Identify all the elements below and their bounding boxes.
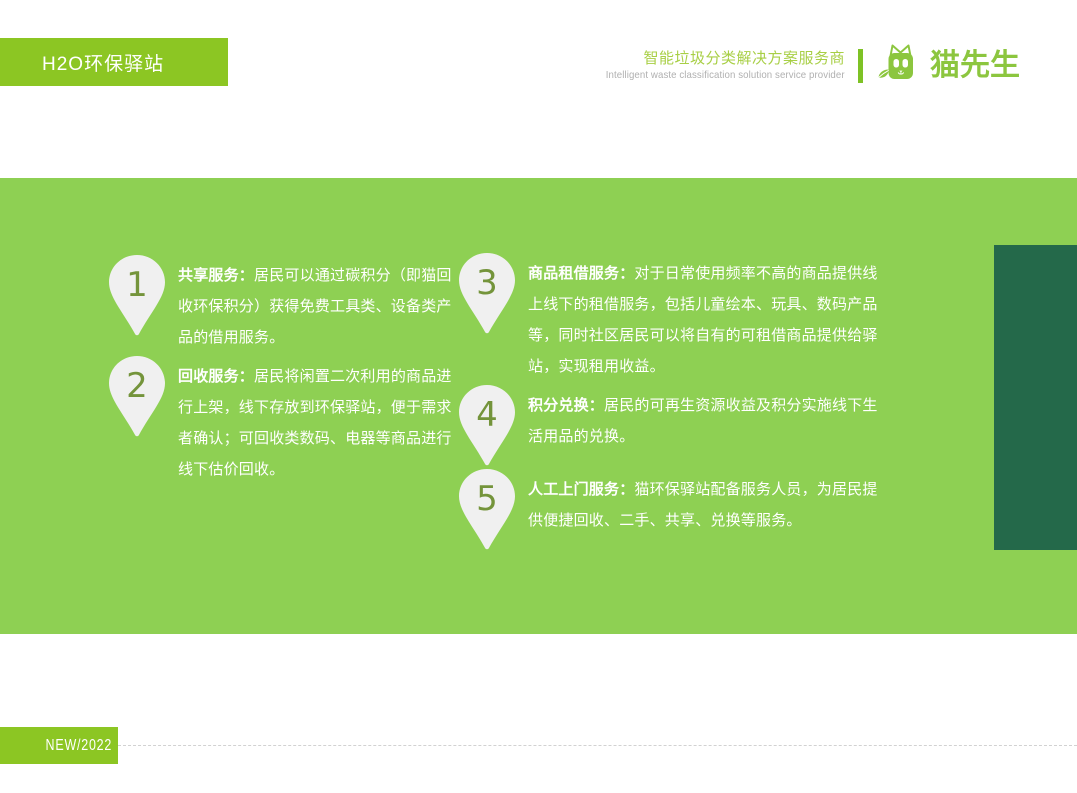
list-item-lead: 人工上门服务： <box>528 481 634 498</box>
list-item-text: 积分兑换：居民的可再生资源收益及积分实施线下生活用品的兑换。 <box>518 382 888 452</box>
pin-number: 1 <box>106 258 168 312</box>
cat-face-leaf-logo-icon <box>877 44 923 88</box>
map-pin-icon: 5 <box>456 468 518 550</box>
footer-divider <box>118 745 1077 746</box>
list-item: 3 商品租借服务：对于日常使用频率不高的商品提供线上线下的租借服务，包括儿童绘本… <box>456 250 888 382</box>
list-item-text: 共享服务：居民可以通过碳积分（即猫回收环保积分）获得免费工具类、设备类产品的借用… <box>168 252 458 353</box>
map-pin-icon: 3 <box>456 252 518 334</box>
service-list-left: 1 共享服务：居民可以通过碳积分（即猫回收环保积分）获得免费工具类、设备类产品的… <box>106 252 458 485</box>
brand-slogan-en: Intelligent waste classification solutio… <box>606 68 845 83</box>
list-item-lead: 回收服务： <box>178 368 254 385</box>
service-list-right: 3 商品租借服务：对于日常使用频率不高的商品提供线上线下的租借服务，包括儿童绘本… <box>456 250 888 550</box>
list-item: 2 回收服务：居民将闲置二次利用的商品进行上架，线下存放到环保驿站，便于需求者确… <box>106 353 458 485</box>
list-item-lead: 共享服务： <box>178 267 254 284</box>
footer-badge: NEW/2022 <box>0 727 118 764</box>
pin-number: 4 <box>456 388 518 442</box>
list-item-text: 回收服务：居民将闲置二次利用的商品进行上架，线下存放到环保驿站，便于需求者确认；… <box>168 353 458 485</box>
list-item-lead: 商品租借服务： <box>528 265 634 282</box>
brand-logo: 猫先生 <box>877 44 1020 88</box>
pin-number: 2 <box>106 359 168 413</box>
list-item: 5 人工上门服务：猫环保驿站配备服务人员，为居民提供便捷回收、二手、共享、兑换等… <box>456 466 888 550</box>
brand-divider <box>858 49 863 83</box>
map-pin-icon: 1 <box>106 254 168 336</box>
map-pin-icon: 4 <box>456 384 518 466</box>
brand-name: 猫先生 <box>930 50 1020 82</box>
pin-number: 5 <box>456 472 518 526</box>
slide-title-box: H2O环保驿站 <box>0 38 228 86</box>
pin-number: 3 <box>456 256 518 310</box>
list-item-lead: 积分兑换： <box>528 397 604 414</box>
page-title: H2O环保驿站 <box>0 49 164 76</box>
accent-block <box>994 245 1077 550</box>
list-item: 4 积分兑换：居民的可再生资源收益及积分实施线下生活用品的兑换。 <box>456 382 888 466</box>
brand-slogan-cn: 智能垃圾分类解决方案服务商 <box>643 49 845 68</box>
list-item: 1 共享服务：居民可以通过碳积分（即猫回收环保积分）获得免费工具类、设备类产品的… <box>106 252 458 353</box>
footer-label: NEW/2022 <box>45 737 118 755</box>
brand-slogan: 智能垃圾分类解决方案服务商 Intelligent waste classifi… <box>585 49 858 83</box>
brand-header: 智能垃圾分类解决方案服务商 Intelligent waste classifi… <box>585 40 1020 92</box>
map-pin-icon: 2 <box>106 355 168 437</box>
list-item-text: 人工上门服务：猫环保驿站配备服务人员，为居民提供便捷回收、二手、共享、兑换等服务… <box>518 466 888 536</box>
list-item-text: 商品租借服务：对于日常使用频率不高的商品提供线上线下的租借服务，包括儿童绘本、玩… <box>518 250 888 382</box>
